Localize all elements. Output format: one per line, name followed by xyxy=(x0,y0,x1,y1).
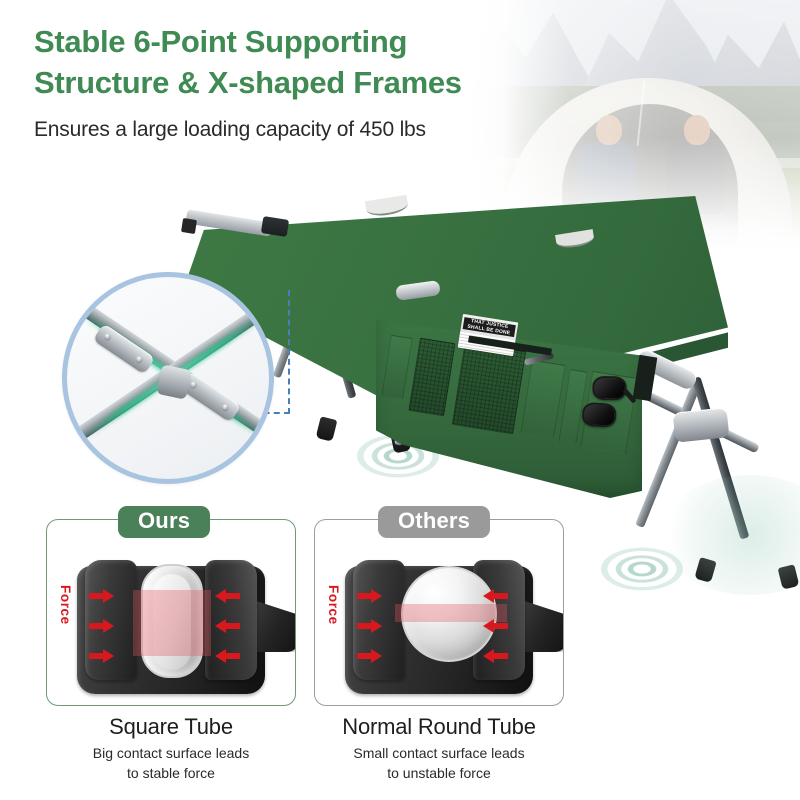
force-arrow-left xyxy=(483,649,494,663)
tube-end-cap xyxy=(181,218,197,234)
force-arrow-tail xyxy=(357,623,371,629)
sunglasses-lens xyxy=(592,376,626,401)
force-arrow-left xyxy=(215,589,226,603)
badge-others: Others xyxy=(378,506,490,538)
force-arrow-tail xyxy=(89,623,103,629)
comparison-panel-others xyxy=(314,519,564,706)
bed-fabric-notch xyxy=(365,195,409,218)
caption-title-ours: Square Tube xyxy=(21,714,321,740)
force-arrow-right xyxy=(103,649,114,663)
x-joint-hub xyxy=(673,407,730,442)
force-arrow-tail xyxy=(226,593,240,599)
caption-description-ours: Big contact surface leads to stable forc… xyxy=(21,744,321,784)
caption-description-others: Small contact surface leads to unstable … xyxy=(289,744,589,784)
infographic-page: Stable 6-Point Supporting Structure & X-… xyxy=(0,0,800,800)
x-frame-closeup-magnifier xyxy=(62,272,274,484)
callout-leader-line-vertical xyxy=(288,290,290,414)
clamp-diagram-round xyxy=(327,550,553,700)
force-arrow-left xyxy=(215,619,226,633)
headline-line-2: Structure & X-shaped Frames xyxy=(34,63,634,104)
organizer-mesh-pocket xyxy=(452,342,526,435)
force-arrow-right xyxy=(103,619,114,633)
x-center-hub xyxy=(156,364,192,400)
force-arrow-right xyxy=(371,619,382,633)
force-arrow-tail xyxy=(494,593,508,599)
headline-line-1: Stable 6-Point Supporting xyxy=(34,22,634,63)
force-arrow-tail xyxy=(89,653,103,659)
subheadline: Ensures a large loading capacity of 450 … xyxy=(34,118,426,142)
bolt-icon xyxy=(134,355,144,365)
caption-line-1: Big contact surface leads xyxy=(21,744,321,764)
caption-title-others: Normal Round Tube xyxy=(289,714,589,740)
force-arrow-tail xyxy=(226,623,240,629)
force-arrow-tail xyxy=(357,593,371,599)
clamp-jaw-right xyxy=(205,560,257,680)
force-arrow-tail xyxy=(89,593,103,599)
force-label-ours: Force xyxy=(58,585,73,625)
force-arrow-tail xyxy=(494,623,508,629)
sunglasses-lens xyxy=(582,402,617,428)
caption-line-2: to unstable force xyxy=(289,764,589,784)
force-arrow-tail xyxy=(494,653,508,659)
comparison-panel-ours xyxy=(46,519,296,706)
comparison-section: Ours Force xyxy=(0,505,800,800)
bolt-icon xyxy=(220,403,230,413)
badge-ours: Ours xyxy=(118,506,210,538)
caption-line-1: Small contact surface leads xyxy=(289,744,589,764)
force-arrow-tail xyxy=(226,653,240,659)
bolt-icon xyxy=(188,380,198,390)
force-label-others: Force xyxy=(326,585,341,625)
force-arrow-right xyxy=(371,589,382,603)
force-arrow-left xyxy=(483,619,494,633)
bolt-icon xyxy=(102,332,112,342)
force-arrow-left xyxy=(215,649,226,663)
force-arrow-tail xyxy=(357,653,371,659)
clamp-diagram-square xyxy=(59,550,285,700)
leg-foot xyxy=(316,416,338,441)
contact-surface-band xyxy=(133,590,211,656)
force-arrow-right xyxy=(103,589,114,603)
headline-block: Stable 6-Point Supporting Structure & X-… xyxy=(34,22,634,104)
force-arrow-right xyxy=(371,649,382,663)
caption-line-2: to stable force xyxy=(21,764,321,784)
force-arrow-left xyxy=(483,589,494,603)
sunglasses-item xyxy=(576,372,638,436)
